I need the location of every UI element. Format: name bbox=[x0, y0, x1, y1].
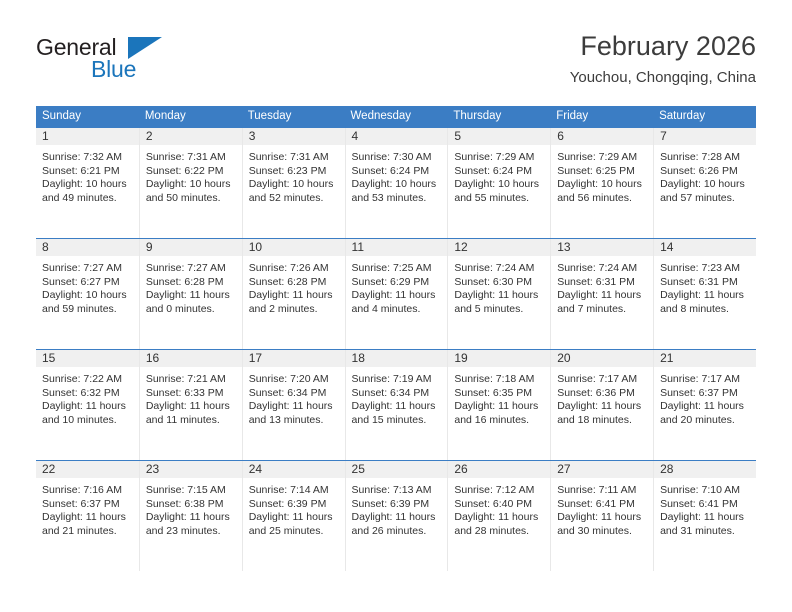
day-number: 10 bbox=[243, 239, 345, 256]
daylight-text-line1: Daylight: 11 hours bbox=[352, 289, 443, 303]
sunrise-text: Sunrise: 7:17 AM bbox=[557, 373, 648, 387]
daylight-text-line2: and 11 minutes. bbox=[146, 414, 237, 428]
daylight-text-line2: and 25 minutes. bbox=[249, 525, 340, 539]
weekday-header-wednesday: Wednesday bbox=[345, 106, 448, 128]
sunrise-text: Sunrise: 7:21 AM bbox=[146, 373, 237, 387]
daylight-text-line1: Daylight: 11 hours bbox=[660, 400, 751, 414]
daylight-text-line2: and 16 minutes. bbox=[454, 414, 545, 428]
sunset-text: Sunset: 6:32 PM bbox=[42, 387, 134, 401]
daylight-text-line2: and 20 minutes. bbox=[660, 414, 751, 428]
daylight-text-line2: and 31 minutes. bbox=[660, 525, 751, 539]
day-number: 26 bbox=[448, 461, 550, 478]
sunrise-text: Sunrise: 7:15 AM bbox=[146, 484, 237, 498]
calendar-head: Sunday Monday Tuesday Wednesday Thursday… bbox=[36, 106, 756, 128]
day-number: 14 bbox=[654, 239, 756, 256]
daylight-text-line1: Daylight: 10 hours bbox=[249, 178, 340, 192]
day-number: 11 bbox=[346, 239, 448, 256]
daylight-text-line2: and 55 minutes. bbox=[454, 192, 545, 206]
sunset-text: Sunset: 6:37 PM bbox=[42, 498, 134, 512]
day-cell[interactable]: 28 Sunrise: 7:10 AM Sunset: 6:41 PM Dayl… bbox=[653, 461, 756, 572]
daylight-text-line2: and 28 minutes. bbox=[454, 525, 545, 539]
day-number: 4 bbox=[346, 128, 448, 145]
day-cell[interactable]: 1 Sunrise: 7:32 AM Sunset: 6:21 PM Dayli… bbox=[36, 128, 139, 239]
day-cell[interactable]: 20 Sunrise: 7:17 AM Sunset: 6:36 PM Dayl… bbox=[550, 350, 653, 461]
sunset-text: Sunset: 6:34 PM bbox=[249, 387, 340, 401]
sunrise-text: Sunrise: 7:31 AM bbox=[146, 151, 237, 165]
day-cell[interactable]: 3 Sunrise: 7:31 AM Sunset: 6:23 PM Dayli… bbox=[242, 128, 345, 239]
weekday-header-sunday: Sunday bbox=[36, 106, 139, 128]
daylight-text-line1: Daylight: 10 hours bbox=[660, 178, 751, 192]
brand-name-blue: Blue bbox=[91, 56, 136, 83]
sunrise-text: Sunrise: 7:24 AM bbox=[454, 262, 545, 276]
daylight-text-line2: and 18 minutes. bbox=[557, 414, 648, 428]
page-subtitle: Youchou, Chongqing, China bbox=[570, 68, 756, 88]
day-cell[interactable]: 6 Sunrise: 7:29 AM Sunset: 6:25 PM Dayli… bbox=[550, 128, 653, 239]
week-row: 15 Sunrise: 7:22 AM Sunset: 6:32 PM Dayl… bbox=[36, 350, 756, 461]
day-number: 28 bbox=[654, 461, 756, 478]
sunset-text: Sunset: 6:27 PM bbox=[42, 276, 134, 290]
sunset-text: Sunset: 6:31 PM bbox=[557, 276, 648, 290]
daylight-text-line2: and 26 minutes. bbox=[352, 525, 443, 539]
sunset-text: Sunset: 6:41 PM bbox=[660, 498, 751, 512]
day-cell[interactable]: 9 Sunrise: 7:27 AM Sunset: 6:28 PM Dayli… bbox=[139, 239, 242, 350]
day-cell[interactable]: 23 Sunrise: 7:15 AM Sunset: 6:38 PM Dayl… bbox=[139, 461, 242, 572]
weekday-header-monday: Monday bbox=[139, 106, 242, 128]
daylight-text-line1: Daylight: 11 hours bbox=[146, 289, 237, 303]
daylight-text-line1: Daylight: 11 hours bbox=[557, 289, 648, 303]
daylight-text-line1: Daylight: 11 hours bbox=[42, 511, 134, 525]
daylight-text-line2: and 4 minutes. bbox=[352, 303, 443, 317]
daylight-text-line2: and 10 minutes. bbox=[42, 414, 134, 428]
day-cell[interactable]: 2 Sunrise: 7:31 AM Sunset: 6:22 PM Dayli… bbox=[139, 128, 242, 239]
sunset-text: Sunset: 6:25 PM bbox=[557, 165, 648, 179]
daylight-text-line2: and 21 minutes. bbox=[42, 525, 134, 539]
week-row: 22 Sunrise: 7:16 AM Sunset: 6:37 PM Dayl… bbox=[36, 461, 756, 572]
sunset-text: Sunset: 6:29 PM bbox=[352, 276, 443, 290]
sunset-text: Sunset: 6:28 PM bbox=[146, 276, 237, 290]
daylight-text-line1: Daylight: 10 hours bbox=[42, 289, 134, 303]
daylight-text-line1: Daylight: 10 hours bbox=[557, 178, 648, 192]
day-cell[interactable]: 14 Sunrise: 7:23 AM Sunset: 6:31 PM Dayl… bbox=[653, 239, 756, 350]
sunrise-text: Sunrise: 7:29 AM bbox=[454, 151, 545, 165]
daylight-text-line1: Daylight: 11 hours bbox=[454, 511, 545, 525]
daylight-text-line2: and 8 minutes. bbox=[660, 303, 751, 317]
daylight-text-line1: Daylight: 11 hours bbox=[352, 511, 443, 525]
day-number: 12 bbox=[448, 239, 550, 256]
day-cell[interactable]: 12 Sunrise: 7:24 AM Sunset: 6:30 PM Dayl… bbox=[447, 239, 550, 350]
sunset-text: Sunset: 6:22 PM bbox=[146, 165, 237, 179]
sunrise-text: Sunrise: 7:18 AM bbox=[454, 373, 545, 387]
sunrise-text: Sunrise: 7:10 AM bbox=[660, 484, 751, 498]
weekday-header-saturday: Saturday bbox=[653, 106, 756, 128]
daylight-text-line1: Daylight: 11 hours bbox=[146, 511, 237, 525]
sunrise-text: Sunrise: 7:30 AM bbox=[352, 151, 443, 165]
day-cell[interactable]: 15 Sunrise: 7:22 AM Sunset: 6:32 PM Dayl… bbox=[36, 350, 139, 461]
daylight-text-line1: Daylight: 11 hours bbox=[454, 400, 545, 414]
day-number: 24 bbox=[243, 461, 345, 478]
daylight-text-line2: and 52 minutes. bbox=[249, 192, 340, 206]
day-number: 7 bbox=[654, 128, 756, 145]
calendar-table: Sunday Monday Tuesday Wednesday Thursday… bbox=[36, 106, 756, 571]
sunset-text: Sunset: 6:35 PM bbox=[454, 387, 545, 401]
page-header: General Blue February 2026 Youchou, Chon… bbox=[36, 30, 756, 92]
day-number: 25 bbox=[346, 461, 448, 478]
sunrise-text: Sunrise: 7:31 AM bbox=[249, 151, 340, 165]
daylight-text-line2: and 5 minutes. bbox=[454, 303, 545, 317]
sunset-text: Sunset: 6:28 PM bbox=[249, 276, 340, 290]
day-cell[interactable]: 4 Sunrise: 7:30 AM Sunset: 6:24 PM Dayli… bbox=[345, 128, 448, 239]
weekday-header-thursday: Thursday bbox=[447, 106, 550, 128]
day-number: 27 bbox=[551, 461, 653, 478]
sunset-text: Sunset: 6:21 PM bbox=[42, 165, 134, 179]
daylight-text-line1: Daylight: 11 hours bbox=[42, 400, 134, 414]
sunset-text: Sunset: 6:40 PM bbox=[454, 498, 545, 512]
day-cell[interactable]: 27 Sunrise: 7:11 AM Sunset: 6:41 PM Dayl… bbox=[550, 461, 653, 572]
day-cell[interactable]: 24 Sunrise: 7:14 AM Sunset: 6:39 PM Dayl… bbox=[242, 461, 345, 572]
daylight-text-line2: and 53 minutes. bbox=[352, 192, 443, 206]
sunrise-text: Sunrise: 7:13 AM bbox=[352, 484, 443, 498]
daylight-text-line1: Daylight: 11 hours bbox=[146, 400, 237, 414]
sunrise-text: Sunrise: 7:20 AM bbox=[249, 373, 340, 387]
sunset-text: Sunset: 6:39 PM bbox=[249, 498, 340, 512]
daylight-text-line2: and 56 minutes. bbox=[557, 192, 648, 206]
daylight-text-line2: and 13 minutes. bbox=[249, 414, 340, 428]
day-number: 6 bbox=[551, 128, 653, 145]
day-cell[interactable]: 10 Sunrise: 7:26 AM Sunset: 6:28 PM Dayl… bbox=[242, 239, 345, 350]
day-cell[interactable]: 26 Sunrise: 7:12 AM Sunset: 6:40 PM Dayl… bbox=[447, 461, 550, 572]
daylight-text-line2: and 49 minutes. bbox=[42, 192, 134, 206]
daylight-text-line1: Daylight: 10 hours bbox=[42, 178, 134, 192]
page-title: February 2026 bbox=[570, 30, 756, 62]
sunrise-text: Sunrise: 7:16 AM bbox=[42, 484, 134, 498]
day-number: 3 bbox=[243, 128, 345, 145]
daylight-text-line2: and 0 minutes. bbox=[146, 303, 237, 317]
sunrise-text: Sunrise: 7:17 AM bbox=[660, 373, 751, 387]
day-cell[interactable]: 21 Sunrise: 7:17 AM Sunset: 6:37 PM Dayl… bbox=[653, 350, 756, 461]
day-number: 19 bbox=[448, 350, 550, 367]
sunrise-text: Sunrise: 7:22 AM bbox=[42, 373, 134, 387]
daylight-text-line1: Daylight: 10 hours bbox=[454, 178, 545, 192]
daylight-text-line1: Daylight: 11 hours bbox=[249, 289, 340, 303]
sunset-text: Sunset: 6:39 PM bbox=[352, 498, 443, 512]
sunset-text: Sunset: 6:23 PM bbox=[249, 165, 340, 179]
sunset-text: Sunset: 6:24 PM bbox=[454, 165, 545, 179]
sunrise-text: Sunrise: 7:27 AM bbox=[146, 262, 237, 276]
weekday-header-tuesday: Tuesday bbox=[242, 106, 345, 128]
week-row: 8 Sunrise: 7:27 AM Sunset: 6:27 PM Dayli… bbox=[36, 239, 756, 350]
weekday-header-row: Sunday Monday Tuesday Wednesday Thursday… bbox=[36, 106, 756, 128]
sunset-text: Sunset: 6:37 PM bbox=[660, 387, 751, 401]
daylight-text-line2: and 57 minutes. bbox=[660, 192, 751, 206]
daylight-text-line1: Daylight: 10 hours bbox=[352, 178, 443, 192]
day-number: 17 bbox=[243, 350, 345, 367]
day-number: 21 bbox=[654, 350, 756, 367]
day-number: 23 bbox=[140, 461, 242, 478]
week-row: 1 Sunrise: 7:32 AM Sunset: 6:21 PM Dayli… bbox=[36, 128, 756, 239]
day-number: 1 bbox=[36, 128, 139, 145]
day-cell[interactable]: 5 Sunrise: 7:29 AM Sunset: 6:24 PM Dayli… bbox=[447, 128, 550, 239]
sunrise-text: Sunrise: 7:26 AM bbox=[249, 262, 340, 276]
daylight-text-line2: and 50 minutes. bbox=[146, 192, 237, 206]
sunrise-text: Sunrise: 7:14 AM bbox=[249, 484, 340, 498]
sunset-text: Sunset: 6:38 PM bbox=[146, 498, 237, 512]
day-number: 5 bbox=[448, 128, 550, 145]
day-number: 15 bbox=[36, 350, 139, 367]
sunset-text: Sunset: 6:26 PM bbox=[660, 165, 751, 179]
day-cell[interactable]: 13 Sunrise: 7:24 AM Sunset: 6:31 PM Dayl… bbox=[550, 239, 653, 350]
daylight-text-line1: Daylight: 11 hours bbox=[249, 400, 340, 414]
sunset-text: Sunset: 6:30 PM bbox=[454, 276, 545, 290]
daylight-text-line1: Daylight: 11 hours bbox=[454, 289, 545, 303]
day-number: 9 bbox=[140, 239, 242, 256]
daylight-text-line2: and 15 minutes. bbox=[352, 414, 443, 428]
sunrise-text: Sunrise: 7:27 AM bbox=[42, 262, 134, 276]
sunset-text: Sunset: 6:34 PM bbox=[352, 387, 443, 401]
day-cell[interactable]: 19 Sunrise: 7:18 AM Sunset: 6:35 PM Dayl… bbox=[447, 350, 550, 461]
sunrise-text: Sunrise: 7:28 AM bbox=[660, 151, 751, 165]
day-cell[interactable]: 18 Sunrise: 7:19 AM Sunset: 6:34 PM Dayl… bbox=[345, 350, 448, 461]
daylight-text-line2: and 23 minutes. bbox=[146, 525, 237, 539]
daylight-text-line1: Daylight: 11 hours bbox=[557, 400, 648, 414]
sunset-text: Sunset: 6:24 PM bbox=[352, 165, 443, 179]
day-number: 2 bbox=[140, 128, 242, 145]
day-number: 18 bbox=[346, 350, 448, 367]
day-cell[interactable]: 22 Sunrise: 7:16 AM Sunset: 6:37 PM Dayl… bbox=[36, 461, 139, 572]
daylight-text-line1: Daylight: 10 hours bbox=[146, 178, 237, 192]
day-cell[interactable]: 25 Sunrise: 7:13 AM Sunset: 6:39 PM Dayl… bbox=[345, 461, 448, 572]
sunrise-text: Sunrise: 7:24 AM bbox=[557, 262, 648, 276]
daylight-text-line1: Daylight: 11 hours bbox=[249, 511, 340, 525]
sunrise-text: Sunrise: 7:25 AM bbox=[352, 262, 443, 276]
day-cell[interactable]: 8 Sunrise: 7:27 AM Sunset: 6:27 PM Dayli… bbox=[36, 239, 139, 350]
calendar-page: General Blue February 2026 Youchou, Chon… bbox=[0, 0, 792, 612]
daylight-text-line2: and 59 minutes. bbox=[42, 303, 134, 317]
day-cell[interactable]: 7 Sunrise: 7:28 AM Sunset: 6:26 PM Dayli… bbox=[653, 128, 756, 239]
daylight-text-line1: Daylight: 11 hours bbox=[352, 400, 443, 414]
sunset-text: Sunset: 6:31 PM bbox=[660, 276, 751, 290]
title-block: February 2026 Youchou, Chongqing, China bbox=[570, 30, 756, 88]
daylight-text-line1: Daylight: 11 hours bbox=[660, 511, 751, 525]
day-cell[interactable]: 16 Sunrise: 7:21 AM Sunset: 6:33 PM Dayl… bbox=[139, 350, 242, 461]
day-number: 20 bbox=[551, 350, 653, 367]
day-number: 16 bbox=[140, 350, 242, 367]
day-number: 13 bbox=[551, 239, 653, 256]
sunset-text: Sunset: 6:36 PM bbox=[557, 387, 648, 401]
sunset-text: Sunset: 6:33 PM bbox=[146, 387, 237, 401]
day-number: 22 bbox=[36, 461, 139, 478]
daylight-text-line1: Daylight: 11 hours bbox=[557, 511, 648, 525]
sunrise-text: Sunrise: 7:23 AM bbox=[660, 262, 751, 276]
sunrise-text: Sunrise: 7:32 AM bbox=[42, 151, 134, 165]
daylight-text-line2: and 30 minutes. bbox=[557, 525, 648, 539]
day-cell[interactable]: 17 Sunrise: 7:20 AM Sunset: 6:34 PM Dayl… bbox=[242, 350, 345, 461]
daylight-text-line2: and 2 minutes. bbox=[249, 303, 340, 317]
calendar-body: 1 Sunrise: 7:32 AM Sunset: 6:21 PM Dayli… bbox=[36, 128, 756, 572]
day-number: 8 bbox=[36, 239, 139, 256]
sunrise-text: Sunrise: 7:11 AM bbox=[557, 484, 648, 498]
sunrise-text: Sunrise: 7:29 AM bbox=[557, 151, 648, 165]
sunrise-text: Sunrise: 7:19 AM bbox=[352, 373, 443, 387]
day-cell[interactable]: 11 Sunrise: 7:25 AM Sunset: 6:29 PM Dayl… bbox=[345, 239, 448, 350]
weekday-header-friday: Friday bbox=[550, 106, 653, 128]
sunrise-text: Sunrise: 7:12 AM bbox=[454, 484, 545, 498]
daylight-text-line2: and 7 minutes. bbox=[557, 303, 648, 317]
daylight-text-line1: Daylight: 11 hours bbox=[660, 289, 751, 303]
brand-logo[interactable]: General Blue bbox=[36, 34, 216, 90]
sunset-text: Sunset: 6:41 PM bbox=[557, 498, 648, 512]
